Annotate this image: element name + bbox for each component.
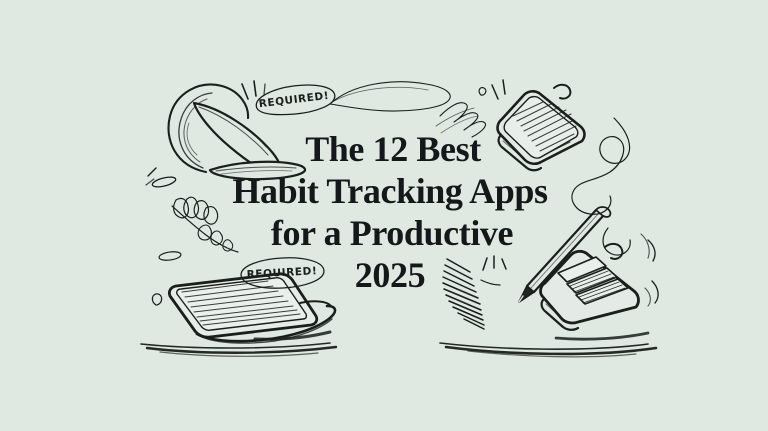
- title-line-2: Habit Tracking Apps: [12, 173, 768, 209]
- required-badge-top: REQUIRED!: [246, 78, 341, 123]
- blog-header-banner: The 12 Best Habit Tracking Apps for a Pr…: [0, 0, 768, 431]
- title-line-3: for a Productive: [16, 215, 768, 251]
- page-title: The 12 Best Habit Tracking Apps for a Pr…: [0, 131, 768, 293]
- required-badge-bottom-label: REQUIRED!: [235, 254, 329, 293]
- required-badge-bottom: REQUIRED!: [235, 254, 329, 293]
- title-line-1: The 12 Best: [18, 131, 768, 167]
- ground-shadow-lines-right: [440, 333, 656, 357]
- required-badge-top-label: REQUIRED!: [246, 78, 341, 123]
- title-line-4: 2025: [12, 257, 768, 293]
- ground-shadow-lines: [141, 332, 336, 356]
- swoosh-underline-doodle: [330, 82, 450, 111]
